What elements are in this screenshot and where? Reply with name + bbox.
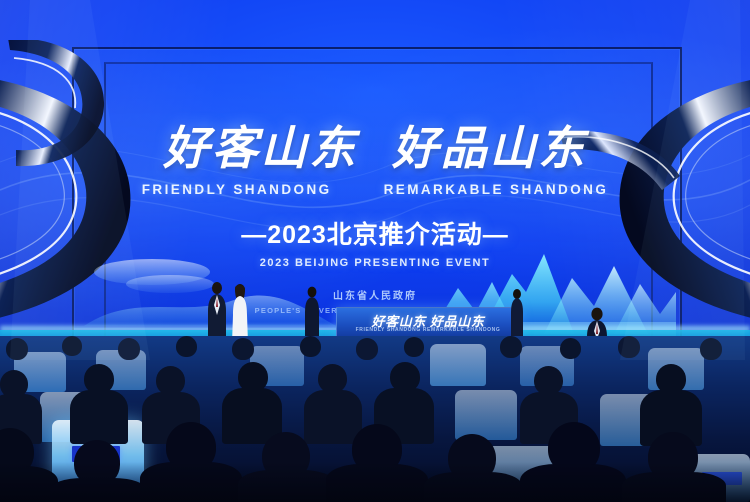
podium-banner: 好客山东 好品山东 FRIENDLY SHANDONG REMARKABLE S… — [336, 307, 520, 339]
audience-head — [700, 338, 722, 360]
main-slogan-cn: 好客山东 好品山东 — [0, 126, 750, 172]
slogan-left-cn: 好客山东 — [163, 126, 358, 172]
organizer-cn: 山东省人民政府 — [0, 287, 750, 302]
slogan-left-en: FRIENDLY SHANDONG — [142, 182, 332, 197]
staff-center — [303, 286, 321, 338]
audience-head — [300, 336, 321, 357]
audience-body — [70, 390, 128, 444]
audience-head — [404, 337, 424, 357]
host-female — [230, 283, 250, 343]
audience-head — [560, 338, 581, 359]
slogan-right-cn: 好品山东 — [392, 126, 587, 172]
audience-head — [118, 338, 140, 360]
foreground-shadow — [0, 462, 750, 502]
chair — [430, 344, 486, 386]
event-line-cn: —2023北京推介活动— — [0, 215, 750, 251]
audience-body — [304, 390, 362, 444]
audience-head — [318, 364, 347, 393]
staff-right — [509, 288, 525, 336]
podium-banner-en: FRIENDLY SHANDONG REMARKABLE SHANDONG — [337, 327, 519, 333]
audience-head — [618, 336, 640, 358]
audience-head — [176, 336, 197, 357]
audience-head — [6, 338, 28, 360]
audience-head — [156, 366, 185, 395]
event-photo: 好客山东 好品山东 FRIENDLY SHANDONG REMARKABLE S… — [0, 0, 750, 502]
event-line-en: 2023 BEIJING PRESENTING EVENT — [0, 257, 750, 269]
host-male — [206, 281, 228, 343]
chair — [455, 390, 517, 440]
audience-head — [232, 338, 254, 360]
main-slogan-en: FRIENDLY SHANDONG REMARKABLE SHANDONG — [0, 182, 750, 197]
slogan-right-en: REMARKABLE SHANDONG — [384, 182, 609, 197]
audience-head — [500, 336, 522, 358]
audience-area — [0, 336, 750, 502]
audience-head — [356, 338, 378, 360]
audience-head — [62, 336, 82, 356]
led-headline-block: 好客山东 好品山东 FRIENDLY SHANDONG REMARKABLE S… — [0, 126, 750, 315]
audience-head — [534, 366, 563, 395]
